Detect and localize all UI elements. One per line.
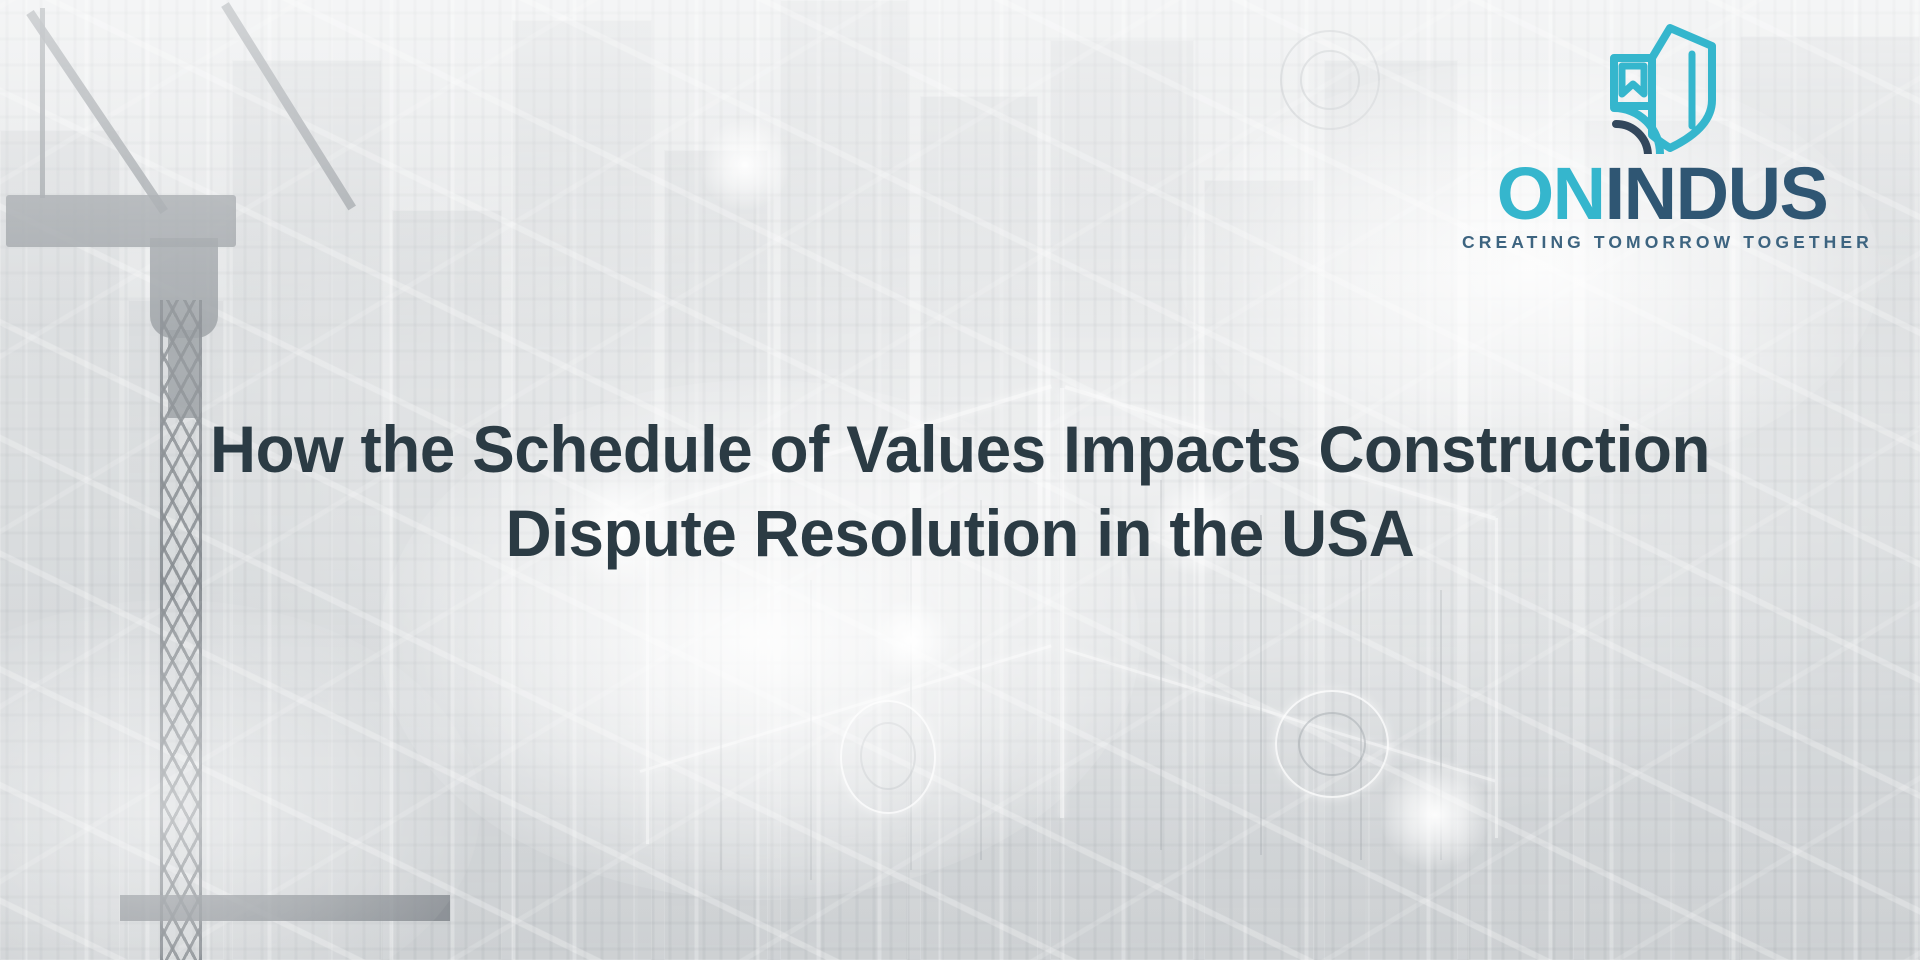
logo-word-indus: INDUS (1605, 152, 1828, 235)
blog-banner: ONINDUS CREATING TOMORROW TOGETHER How t… (0, 0, 1920, 960)
page-title-line-2: Dispute Resolution in the USA (101, 499, 1819, 569)
onindus-logo[interactable]: ONINDUS CREATING TOMORROW TOGETHER (1462, 22, 1862, 253)
logo-wordmark: ONINDUS (1462, 160, 1862, 228)
glow-bloom-e (700, 120, 790, 210)
page-title-line-1: How the Schedule of Values Impacts Const… (101, 415, 1819, 485)
glow-bloom-d (1380, 760, 1490, 870)
logo-tagline: CREATING TOMORROW TOGETHER (1462, 232, 1862, 253)
tower-crane-top-left (0, 0, 420, 430)
hud-ring-right-inner (1298, 712, 1366, 776)
building-shield-signal-icon (1600, 22, 1724, 154)
crane-jib-lower-left (120, 895, 450, 921)
page-title: How the Schedule of Values Impacts Const… (0, 415, 1920, 569)
logo-word-on: ON (1497, 152, 1605, 235)
crane-mast-lower-left (160, 300, 202, 960)
hud-ring-top-inner (1300, 50, 1360, 110)
glow-bloom-c (870, 600, 950, 680)
hud-ring-left-inner (860, 722, 916, 790)
